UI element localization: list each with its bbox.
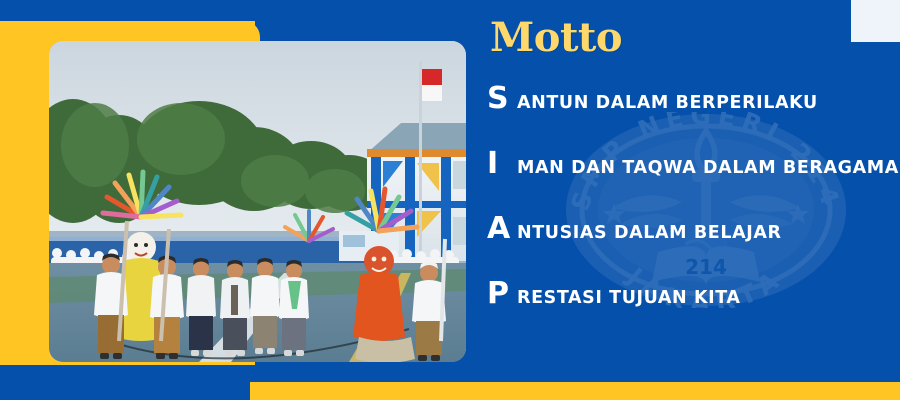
motto-line-antusias: A ntusias dalam belajar	[487, 214, 900, 279]
motto-text-antusias: ntusias dalam belajar	[517, 225, 782, 243]
motto-banner: 214 SMP NEGERI 214 JAKARTA	[0, 0, 900, 400]
motto-text-iman: man dan taqwa dalam beragama	[517, 160, 899, 178]
motto-initial-s: S	[487, 84, 517, 114]
yellow-bottom-bar	[250, 382, 900, 400]
motto-initial-p: P	[487, 279, 517, 309]
motto-line-santun: S antun dalam berperilaku	[487, 84, 900, 149]
school-parade-photo	[49, 41, 466, 362]
motto-text-santun: antun dalam berperilaku	[517, 95, 818, 113]
motto-line-iman: I man dan taqwa dalam beragama	[487, 149, 900, 214]
motto-text-prestasi: restasi tujuan kita	[517, 290, 741, 308]
motto-initial-a: A	[487, 214, 517, 244]
motto-list: S antun dalam berperilaku I man dan taqw…	[487, 84, 900, 344]
motto-text-column: Motto S antun dalam berperilaku I man da…	[487, 18, 900, 348]
motto-line-prestasi: P restasi tujuan kita	[487, 279, 900, 344]
motto-initial-i: I	[487, 149, 517, 179]
page-title: Motto	[487, 18, 900, 58]
